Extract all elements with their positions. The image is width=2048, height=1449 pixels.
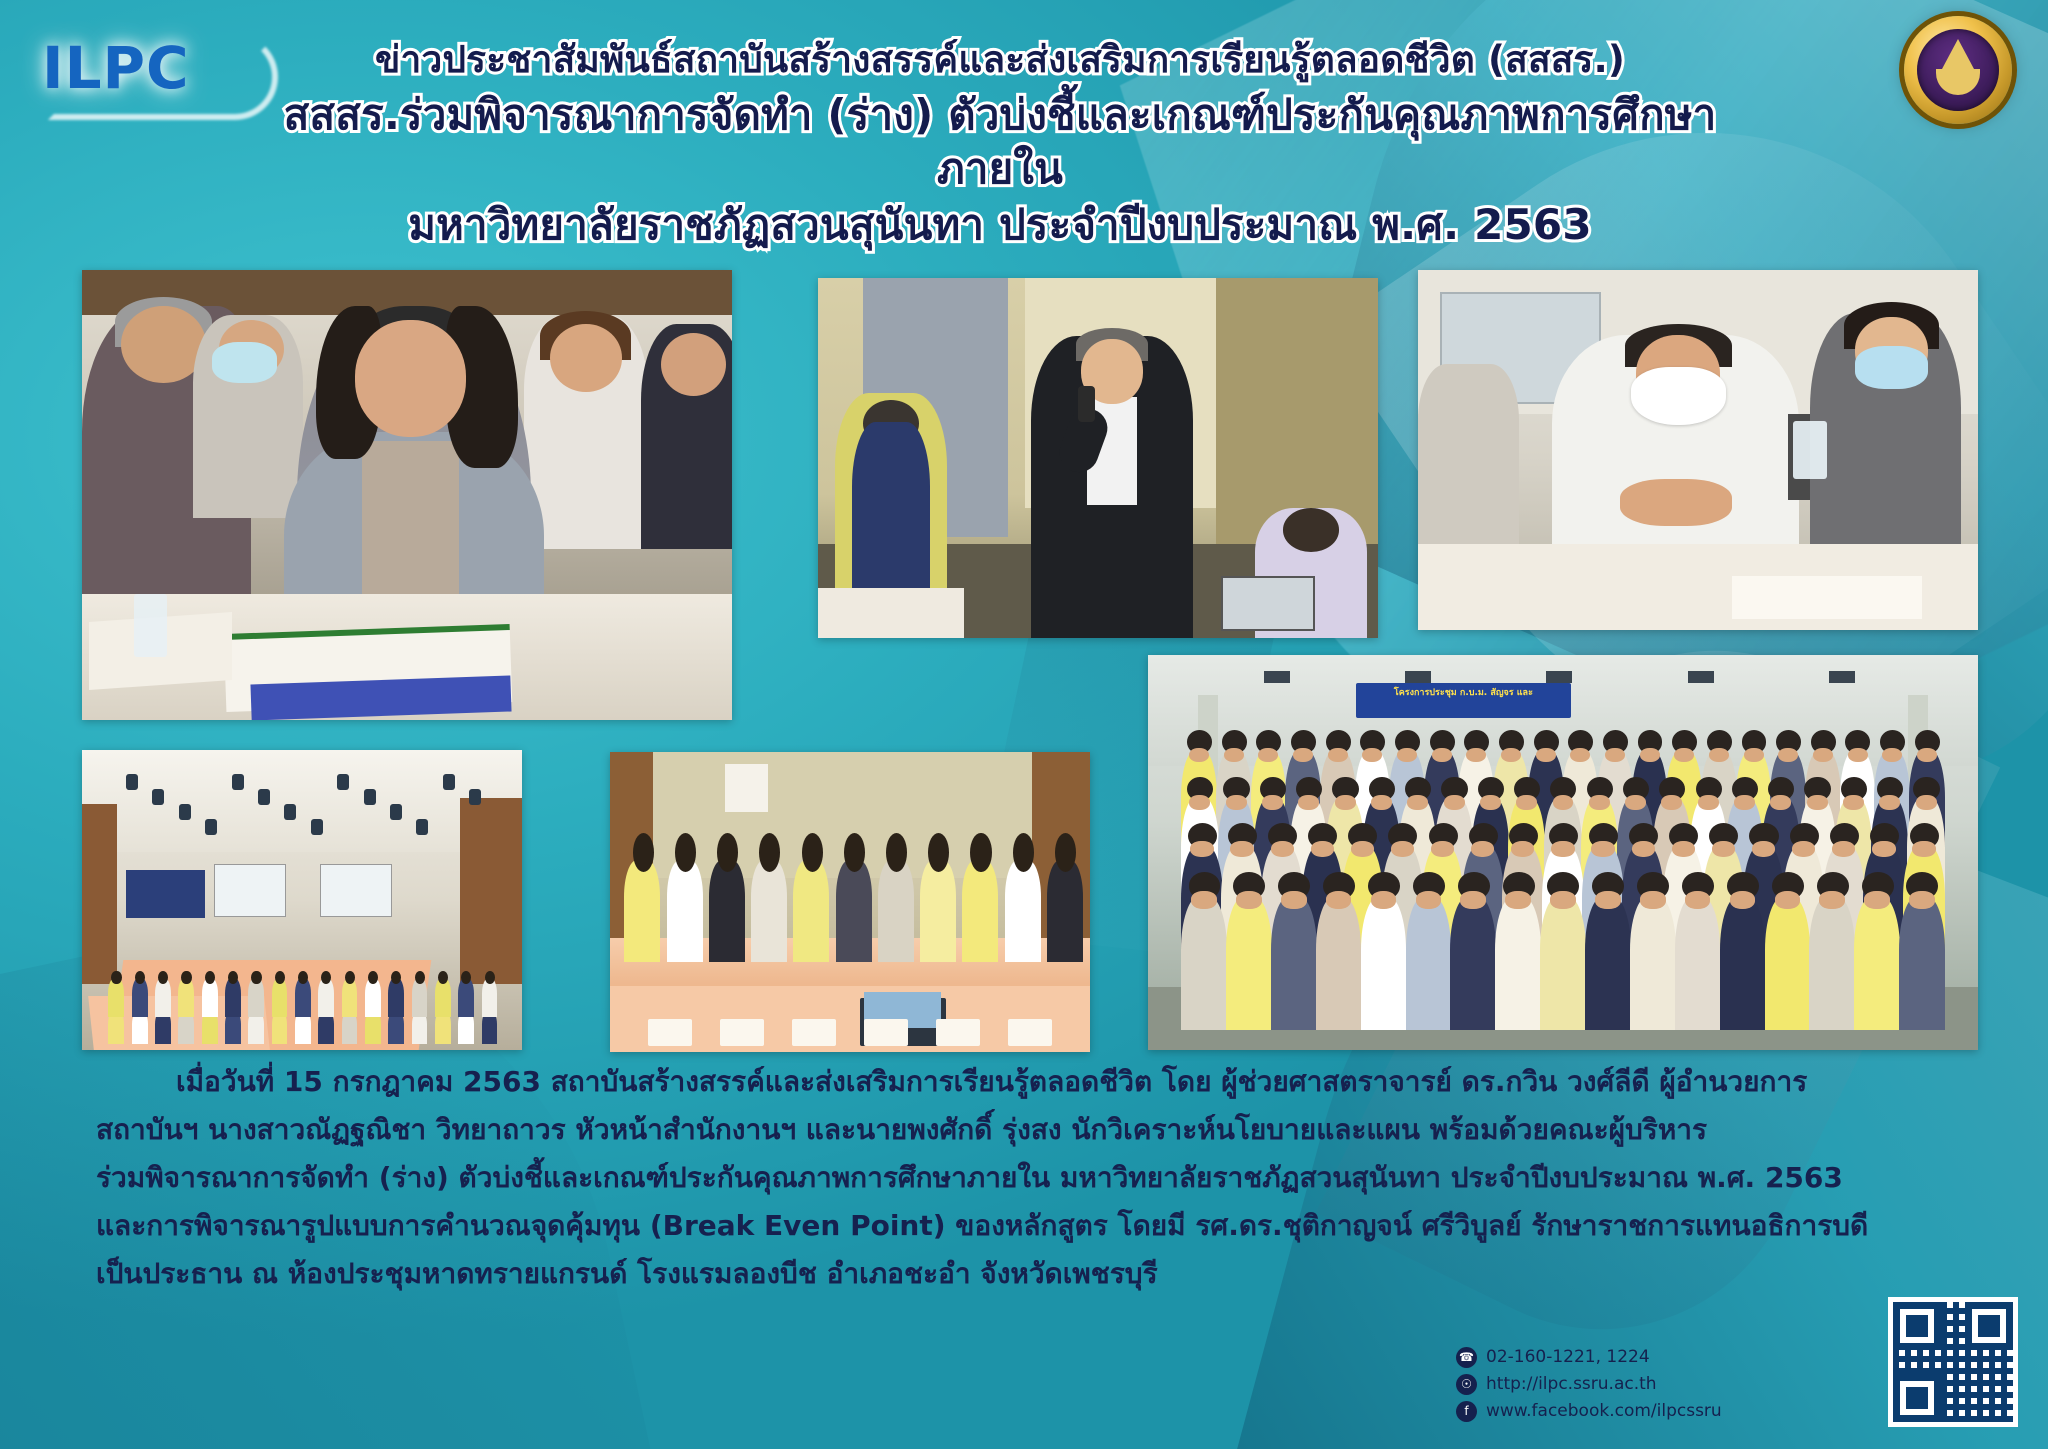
ceiling-lamp — [258, 789, 270, 805]
group-member-face — [1661, 795, 1682, 810]
group-member — [1585, 896, 1631, 1030]
table-attendee-head — [844, 833, 865, 872]
table-attendee — [836, 860, 872, 962]
group-member — [1675, 896, 1721, 1030]
group-member-face — [1917, 748, 1937, 763]
group-member-face — [1262, 795, 1283, 810]
group-member-face — [1271, 841, 1294, 857]
group-member-face — [1516, 795, 1537, 810]
qr-code-pattern — [1893, 1302, 2013, 1422]
ceiling-fixture — [1264, 671, 1290, 683]
contact-facebook-row[interactable]: f www.facebook.com/ilpcssru — [1456, 1398, 1786, 1425]
ceiling-lamp — [390, 804, 402, 820]
group-member-face — [1298, 795, 1319, 810]
ceiling-fixture — [1829, 671, 1855, 683]
group-member-face — [1843, 795, 1864, 810]
table-attendee-head — [675, 833, 696, 872]
photo-conference-hall-wide: ภาพมุมกว้างห้องประชุม — [82, 750, 522, 1050]
body-line-5: เป็นประธาน ณ ห้องประชุมหาดทรายแกรนด์ โรง… — [96, 1250, 1956, 1298]
group-member-face — [1775, 891, 1801, 908]
group-member-face — [1505, 891, 1531, 908]
group-member-face — [1236, 891, 1262, 908]
document-on-table — [864, 1019, 907, 1046]
group-member-face — [1444, 795, 1465, 810]
table-attendee-head — [717, 833, 738, 872]
group-member-face — [1416, 891, 1442, 908]
group-member-face — [1672, 841, 1695, 857]
group-member-face — [1712, 841, 1735, 857]
document-on-table — [720, 1019, 763, 1046]
group-member — [1495, 896, 1541, 1030]
group-member — [1899, 896, 1945, 1030]
table-attendee — [962, 860, 998, 962]
ceiling-lamp — [205, 819, 217, 835]
group-member-face — [1432, 748, 1452, 763]
group-member-face — [1792, 841, 1815, 857]
group-member — [1765, 896, 1811, 1030]
hall-attendee-head — [368, 971, 378, 985]
group-member-face — [1335, 795, 1356, 810]
group-member-face — [1864, 891, 1890, 908]
group-member — [1854, 896, 1900, 1030]
hall-attendee-head — [111, 971, 121, 985]
group-member-face — [1625, 795, 1646, 810]
table-attendee — [878, 860, 914, 962]
group-member-face — [1909, 891, 1935, 908]
title-line-3: มหาวิทยาลัยราชภัฏสวนสุนันทา ประจำปีงบประ… — [240, 198, 1760, 252]
group-member-face — [1326, 891, 1352, 908]
hall-attendee-head — [415, 971, 425, 985]
group-member — [1181, 896, 1227, 1030]
group-member — [1809, 896, 1855, 1030]
group-member-face — [1431, 841, 1454, 857]
group-member-face — [1407, 795, 1428, 810]
title-line-2: สสสร.ร่วมพิจารณาการจัดทำ (ร่าง) ตัวบ่งชี… — [240, 88, 1760, 196]
contact-info: ☎ 02-160-1221, 1224 ☉ http://ilpc.ssru.a… — [1456, 1344, 1786, 1425]
group-member-face — [1685, 891, 1711, 908]
group-member-face — [1879, 795, 1900, 810]
group-member — [1450, 896, 1496, 1030]
ceiling-lamp — [311, 819, 323, 835]
ilpc-logo: ILPC — [42, 28, 272, 114]
group-member — [1630, 896, 1676, 1030]
group-member-face — [1709, 748, 1729, 763]
ceiling-lamp — [443, 774, 455, 790]
document-on-table — [648, 1019, 691, 1046]
ceiling-lamp — [126, 774, 138, 790]
contact-website[interactable]: http://ilpc.ssru.ac.th — [1486, 1371, 1657, 1398]
group-member-face — [1189, 795, 1210, 810]
group-member-face — [1351, 841, 1374, 857]
seal-emblem-icon — [1917, 29, 1999, 111]
group-member-face — [1480, 795, 1501, 810]
ceiling-lamp — [416, 819, 428, 835]
document-on-table — [936, 1019, 979, 1046]
article-body: เมื่อวันที่ 15 กรกฎาคม 2563 สถาบันสร้างส… — [96, 1058, 1956, 1298]
table-attendee — [1005, 860, 1041, 962]
group-member-face — [1589, 795, 1610, 810]
contact-website-row[interactable]: ☉ http://ilpc.ssru.ac.th — [1456, 1371, 1786, 1398]
title-line-1: ข่าวประชาสัมพันธ์สถาบันสร้างสรรค์และส่งเ… — [240, 36, 1760, 84]
group-member — [1271, 896, 1317, 1030]
table-attendee — [709, 860, 745, 962]
group-member-face — [1371, 891, 1397, 908]
ceiling-lamp — [152, 789, 164, 805]
contact-phone: 02-160-1221, 1224 — [1486, 1344, 1650, 1371]
hall-attendee-head — [275, 971, 285, 985]
group-member-face — [1752, 841, 1775, 857]
contact-phone-row: ☎ 02-160-1221, 1224 — [1456, 1344, 1786, 1371]
hall-attendee-head — [345, 971, 355, 985]
body-line-2: สถาบันฯ นางสาวณัฏฐณิชา วิทยาถาวร หัวหน้า… — [96, 1106, 1956, 1154]
group-member-face — [1734, 795, 1755, 810]
photo-participants-table: ผู้เข้าร่วมประชุมนั่งที่โต๊ะยาว — [610, 752, 1090, 1052]
group-member-face — [1460, 891, 1486, 908]
ssru-university-seal — [1904, 16, 2012, 124]
group-member-face — [1595, 891, 1621, 908]
document-on-table — [1008, 1019, 1051, 1046]
group-member-face — [1770, 795, 1791, 810]
table-attendee-head — [886, 833, 907, 872]
group-member-face — [1391, 841, 1414, 857]
document-on-table — [792, 1019, 835, 1046]
ceiling-lamp — [284, 804, 296, 820]
hall-attendee-head — [251, 971, 261, 985]
facebook-icon: f — [1456, 1401, 1477, 1422]
group-member-face — [1230, 841, 1253, 857]
hall-attendee-head — [135, 971, 145, 985]
group-member-face — [1536, 748, 1556, 763]
hall-attendee-head — [438, 971, 448, 985]
ceiling-lamp — [337, 774, 349, 790]
table-attendee — [793, 860, 829, 962]
ceiling-fixture — [1405, 671, 1431, 683]
group-member-face — [1819, 891, 1845, 908]
group-member-face — [1698, 795, 1719, 810]
body-line-3: ร่วมพิจารณาการจัดทำ (ร่าง) ตัวบ่งชี้และเ… — [96, 1154, 1956, 1202]
table-attendee-head — [633, 833, 654, 872]
group-member-face — [1371, 795, 1392, 810]
group-member-face — [1744, 748, 1764, 763]
table-attendee — [1047, 860, 1083, 962]
table-attendee-head — [1013, 833, 1034, 872]
photo-meeting-woman: หญิงผู้บริหารนั่งประชุมที่โต๊ะพร้อมเอกสา… — [82, 270, 732, 720]
group-member-face — [1551, 841, 1574, 857]
globe-icon: ☉ — [1456, 1374, 1477, 1395]
group-member-face — [1640, 891, 1666, 908]
group-member — [1361, 896, 1407, 1030]
ceiling-lamp — [232, 774, 244, 790]
group-member-face — [1872, 841, 1895, 857]
group-member-face — [1591, 841, 1614, 857]
hall-attendee-head — [228, 971, 238, 985]
group-member-face — [1632, 841, 1655, 857]
poster-canvas: ILPC ข่าวประชาสัมพันธ์สถาบันสร้างสรรค์แล… — [0, 0, 2048, 1449]
table-attendee-head — [802, 833, 823, 872]
group-member-face — [1553, 795, 1574, 810]
group-member-face — [1226, 795, 1247, 810]
table-attendee — [624, 860, 660, 962]
group-member-face — [1640, 748, 1660, 763]
ceiling-lamp — [179, 804, 191, 820]
poster-title: ข่าวประชาสัมพันธ์สถาบันสร้างสรรค์และส่งเ… — [240, 36, 1760, 252]
hall-attendee-head — [485, 971, 495, 985]
qr-code[interactable] — [1888, 1297, 2018, 1427]
hall-attendee-head — [181, 971, 191, 985]
group-member-face — [1912, 841, 1935, 857]
phone-icon: ☎ — [1456, 1347, 1477, 1368]
group-member-face — [1190, 841, 1213, 857]
hall-attendee-head — [298, 971, 308, 985]
photo-group-portrait: โครงการประชุม ก.บ.ม. สัญจร และ ภาพหมู่ผู… — [1148, 655, 1978, 1050]
group-member-face — [1730, 891, 1756, 908]
body-line-4: และการพิจารณารูปแบบการคำนวณจุดคุ้มทุน (B… — [96, 1202, 1956, 1250]
group-member-face — [1281, 891, 1307, 908]
group-member — [1540, 896, 1586, 1030]
ceiling-lamp — [364, 789, 376, 805]
table-attendee-head — [1055, 833, 1076, 872]
table-attendee — [751, 860, 787, 962]
group-member — [1720, 896, 1766, 1030]
table-attendee-head — [970, 833, 991, 872]
group-member-face — [1191, 891, 1217, 908]
group-member — [1226, 896, 1272, 1030]
body-line-1: เมื่อวันที่ 15 กรกฎาคม 2563 สถาบันสร้างส… — [96, 1058, 1956, 1106]
group-photo-banner-text: โครงการประชุม ก.บ.ม. สัญจร และ — [1356, 685, 1572, 699]
photo-speaker-microphone: ชายสวมสูทยืนพูดผ่านไมโครโฟน — [818, 278, 1378, 638]
ceiling-fixture — [1688, 671, 1714, 683]
contact-facebook[interactable]: www.facebook.com/ilpcssru — [1486, 1398, 1722, 1425]
group-member — [1406, 896, 1452, 1030]
group-member-face — [1813, 748, 1833, 763]
group-member-face — [1311, 841, 1334, 857]
group-member-face — [1471, 841, 1494, 857]
group-member-face — [1807, 795, 1828, 810]
ceiling-fixture — [1546, 671, 1572, 683]
group-member-face — [1848, 748, 1868, 763]
group-member-face — [1550, 891, 1576, 908]
table-attendee — [667, 860, 703, 962]
hall-attendee-head — [205, 971, 215, 985]
group-member — [1316, 896, 1362, 1030]
group-member-face — [1328, 748, 1348, 763]
ceiling-lamp — [469, 789, 481, 805]
photo-masked-participant: ชายสวมหน้ากากอนามัยนั่งประชุม — [1418, 270, 1978, 630]
group-member-face — [1916, 795, 1937, 810]
table-attendee — [920, 860, 956, 962]
group-member-face — [1224, 748, 1244, 763]
